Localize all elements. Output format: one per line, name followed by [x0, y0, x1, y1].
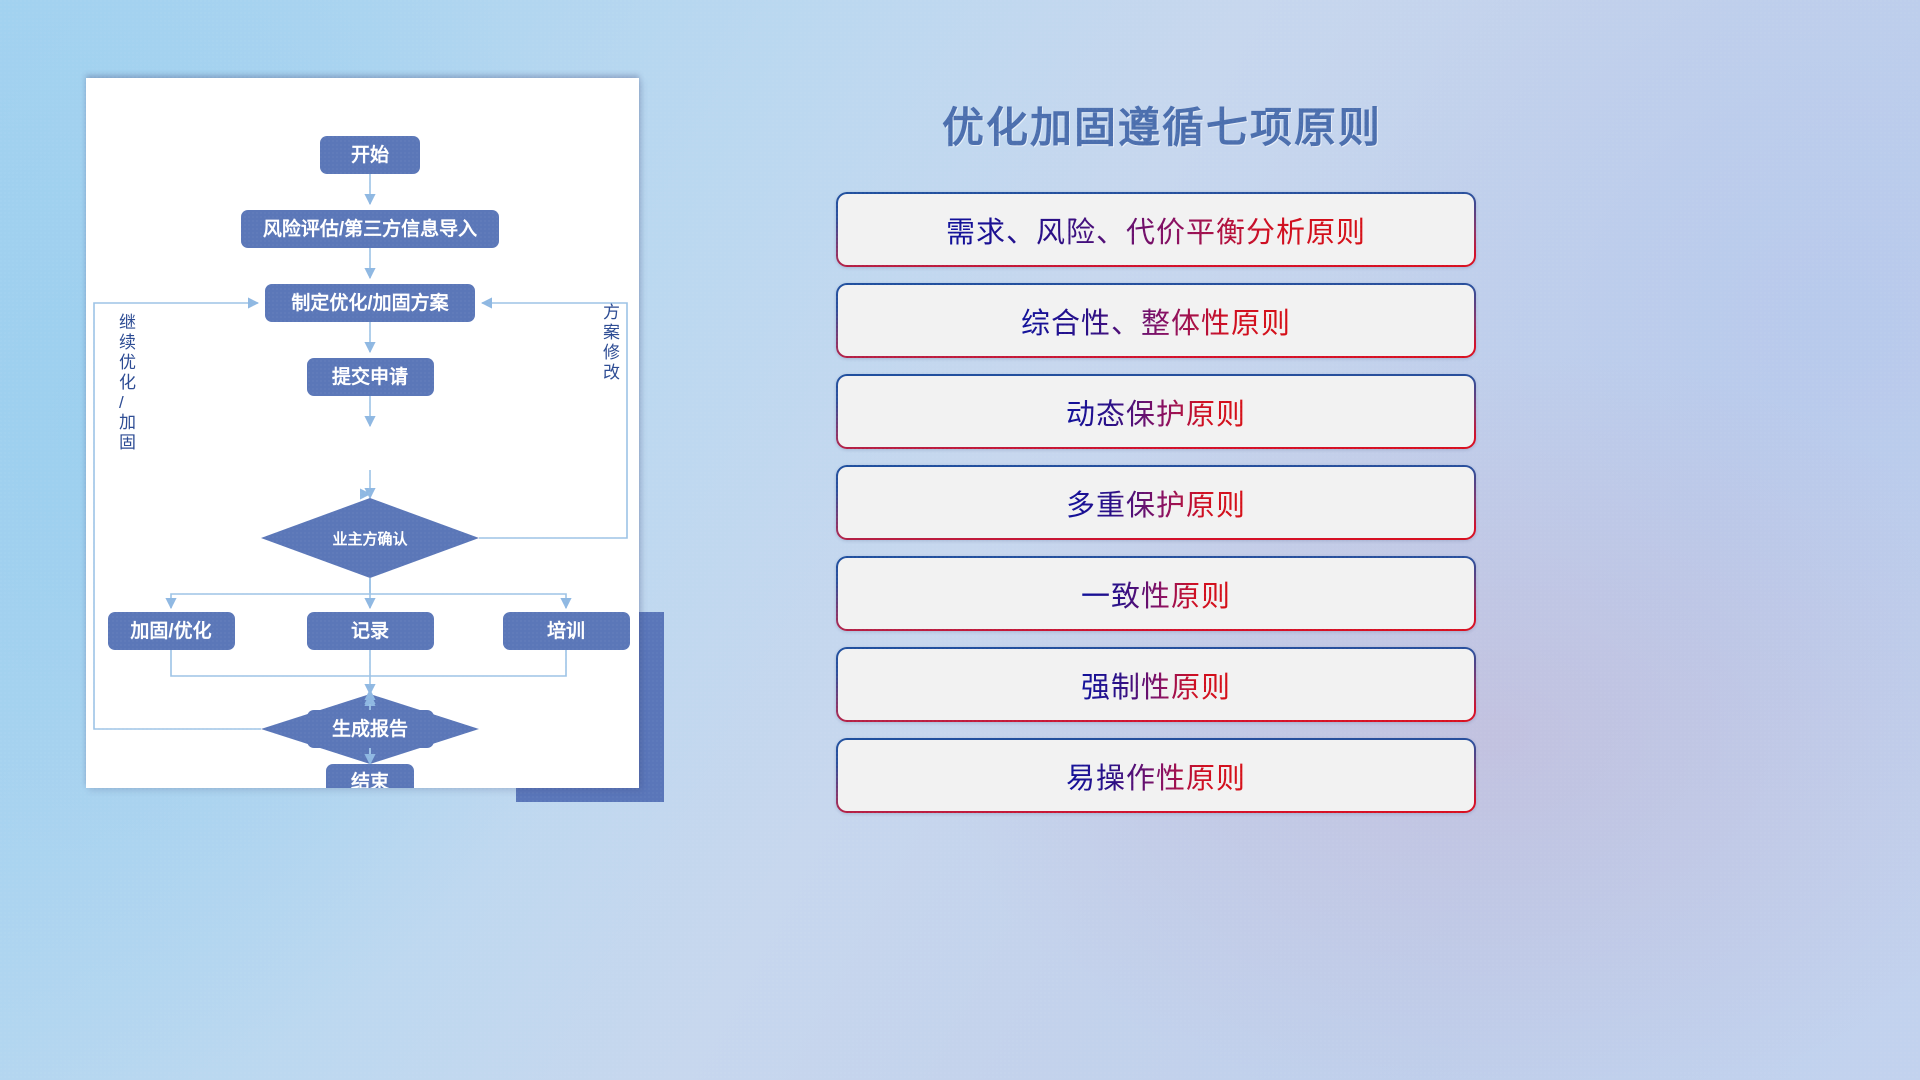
principle-card-5[interactable]: 一致性原则 — [836, 556, 1476, 631]
principle-card-6-inner: 强制性原则 — [838, 649, 1474, 720]
principle-card-1[interactable]: 需求、风险、代价平衡分析原则 — [836, 192, 1476, 267]
principle-card-1-label: 需求、风险、代价平衡分析原则 — [946, 209, 1366, 251]
principle-card-1-inner: 需求、风险、代价平衡分析原则 — [838, 194, 1474, 265]
principle-card-4-inner: 多重保护原则 — [838, 467, 1474, 538]
principle-card-6[interactable]: 强制性原则 — [836, 647, 1476, 722]
principle-card-2[interactable]: 综合性、整体性原则 — [836, 283, 1476, 358]
principle-card-5-inner: 一致性原则 — [838, 558, 1474, 629]
principle-card-7-label: 易操作性原则 — [1066, 755, 1246, 797]
principle-card-4-label: 多重保护原则 — [1066, 482, 1246, 524]
flow-feedback-loops — [94, 303, 627, 729]
principle-card-7-inner: 易操作性原则 — [838, 740, 1474, 811]
principle-card-2-label: 综合性、整体性原则 — [1021, 300, 1291, 342]
flow-node-end-label: 结束 — [351, 770, 390, 788]
principle-card-6-label: 强制性原则 — [1081, 664, 1231, 706]
principle-card-4[interactable]: 多重保护原则 — [836, 465, 1476, 540]
principle-card-3[interactable]: 动态保护原则 — [836, 374, 1476, 449]
principle-list: 需求、风险、代价平衡分析原则 综合性、整体性原则 动态保护原则 多重保护原则 — [836, 192, 1476, 829]
principles-panel: 优化加固遵循七项原则 需求、风险、代价平衡分析原则 综合性、整体性原则 动态保护… — [836, 78, 1846, 818]
principle-card-3-label: 动态保护原则 — [1066, 391, 1246, 433]
flow-node-report-label: 生成报告 — [332, 717, 408, 740]
flow-node-end[interactable]: 结束 — [326, 748, 414, 788]
principle-card-3-inner: 动态保护原则 — [838, 376, 1474, 447]
principle-card-7[interactable]: 易操作性原则 — [836, 738, 1476, 813]
slide-canvas: 开始 风险评估/第三方信息导入 制定优化/加固方案 提交申请 业主方确认 — [0, 0, 1920, 1080]
principle-card-2-inner: 综合性、整体性原则 — [838, 285, 1474, 356]
flowchart-overlay: 生成报告 结束 继续优化/加固 方案修改 — [86, 78, 639, 788]
flow-edge-label-right-loop: 方案修改 — [603, 303, 620, 382]
panel-title: 优化加固遵循七项原则 — [942, 94, 1382, 155]
flow-edge-label-left-loop: 继续优化/加固 — [119, 313, 136, 452]
principle-card-5-label: 一致性原则 — [1081, 573, 1231, 615]
